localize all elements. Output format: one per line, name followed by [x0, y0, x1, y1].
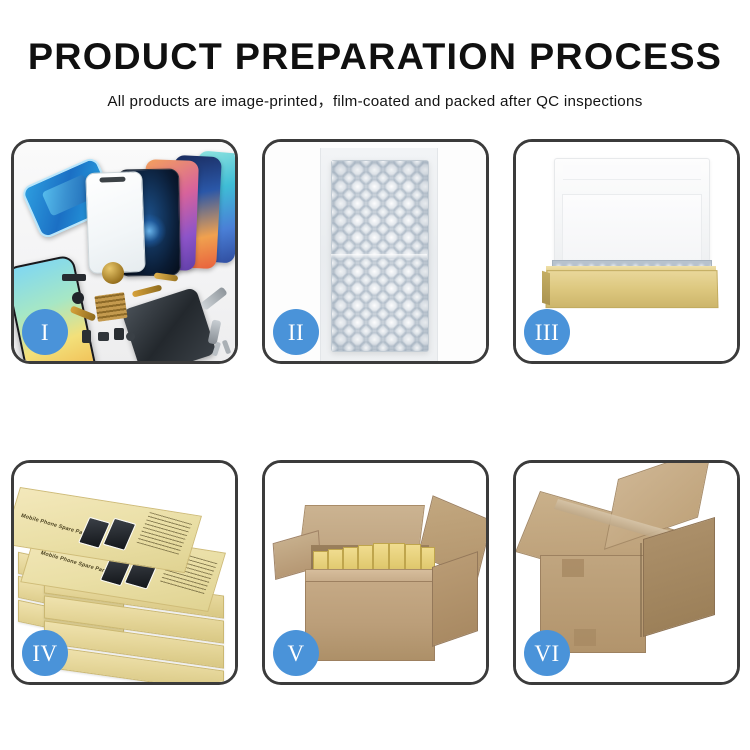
carton-front-face-image — [305, 581, 435, 661]
kraft-box-body-image — [545, 270, 718, 308]
carton-right-face-image — [432, 551, 478, 647]
step-badge-2: II — [273, 309, 319, 355]
step-panel-1: I — [11, 139, 238, 364]
chip-array-part-image — [94, 292, 127, 322]
phone-back-housing-image — [121, 287, 217, 361]
process-steps-grid: I II — [11, 139, 739, 685]
carton-flap-tab-image — [562, 559, 584, 577]
kraft-box-side-image — [542, 271, 550, 306]
step-panel-4: Mobile Phone Spare Parts Mobile Phone Sp… — [11, 460, 238, 685]
page-subtitle: All products are image-printed，film-coat… — [0, 78, 750, 111]
tempered-glass-screen-image — [85, 171, 145, 274]
product-preparation-process-infographic: PRODUCT PREPARATION PROCESS All products… — [0, 0, 750, 750]
step-panel-6: VI — [513, 460, 740, 685]
step-panel-5: V — [262, 460, 489, 685]
step-panel-3: III — [513, 139, 740, 364]
carton-side-face-image — [643, 517, 715, 637]
step-badge-6: VI — [524, 630, 570, 676]
wrap-seam-image — [331, 254, 427, 259]
repair-tool-image — [200, 286, 228, 310]
speaker-part-image — [62, 274, 86, 281]
small-component-part-image — [114, 328, 124, 340]
small-component-part-image — [126, 332, 135, 341]
small-component-part-image — [82, 330, 91, 343]
step-panel-2: II — [262, 139, 489, 364]
step-badge-5: V — [273, 630, 319, 676]
box-label-text: Mobile Phone Spare Parts — [20, 513, 91, 538]
screw-part-image — [222, 340, 231, 355]
page-title: PRODUCT PREPARATION PROCESS — [0, 0, 750, 78]
carton-flap-tab-image — [574, 629, 596, 646]
repair-tool-image — [208, 319, 222, 344]
step-badge-3: III — [524, 309, 570, 355]
step-badge-1: I — [22, 309, 68, 355]
small-component-part-image — [98, 332, 109, 341]
carton-corner-seam-image — [640, 543, 642, 637]
box-label-spec-lines — [136, 512, 192, 555]
camera-module-part-image — [72, 292, 84, 304]
header: PRODUCT PREPARATION PROCESS All products… — [0, 0, 750, 111]
flex-cable-part-image — [132, 284, 163, 297]
copper-coil-part-image — [102, 262, 124, 284]
step-badge-4: IV — [22, 630, 68, 676]
